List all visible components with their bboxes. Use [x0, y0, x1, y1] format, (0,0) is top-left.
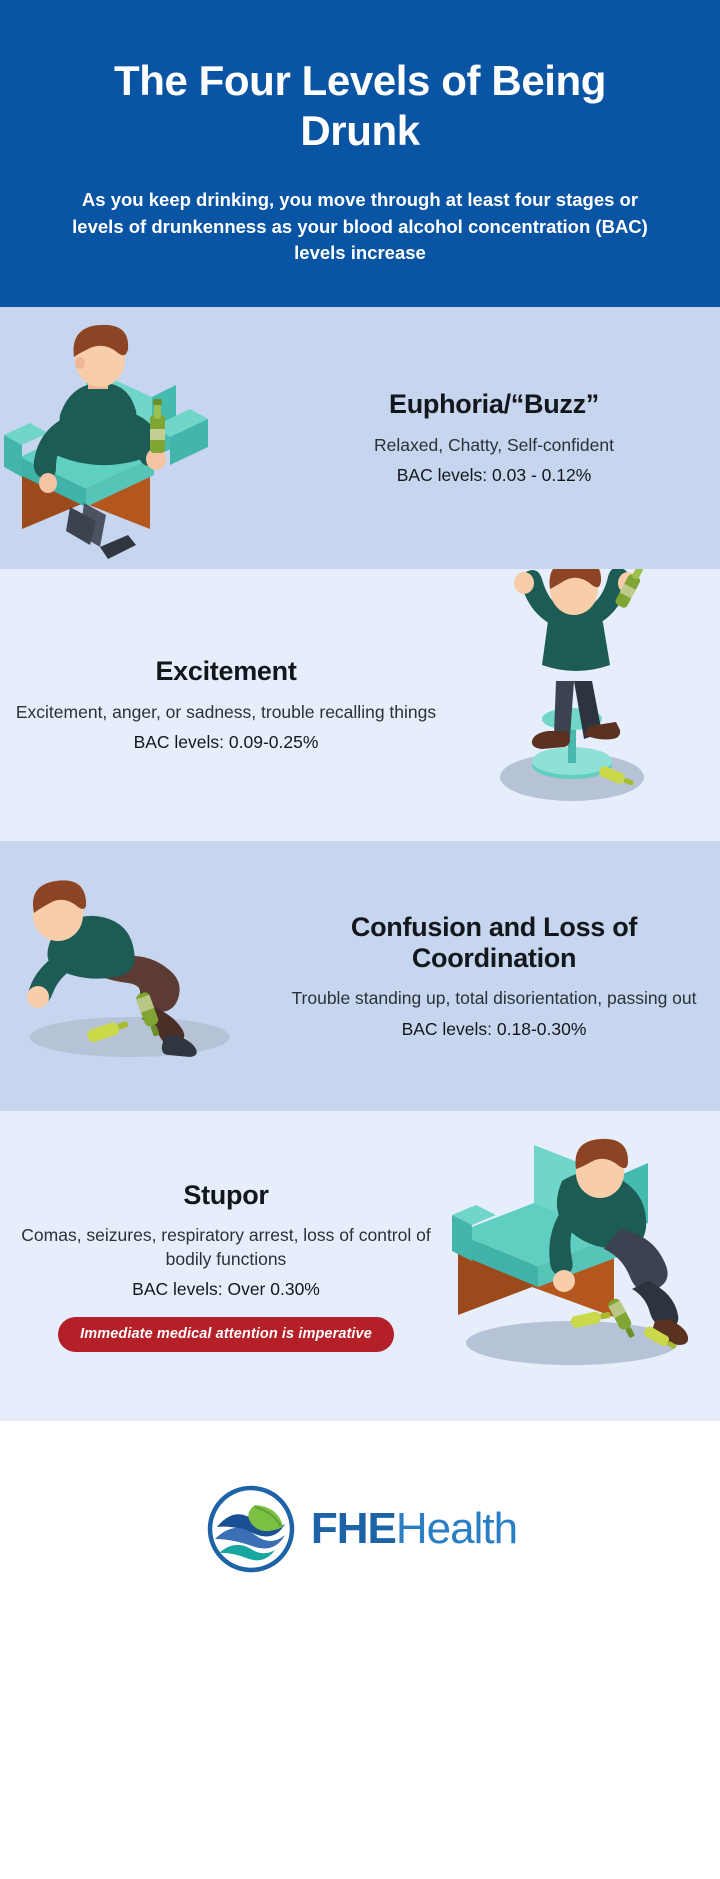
status-badge-immediate-medical-attention: Immediate medical attention is imperativ… — [58, 1317, 394, 1352]
stage-copy-confusion: Confusion and Loss of Coordination Troub… — [268, 912, 720, 1041]
stage-title: Confusion and Loss of Coordination — [282, 912, 706, 975]
infographic-page: The Four Levels of Being Drunk As you ke… — [0, 0, 720, 1879]
sofa-scene-svg — [452, 1111, 720, 1421]
illustration-man-crawling-on-floor — [0, 841, 268, 1111]
illustration-man-sitting-in-armchair — [0, 307, 268, 569]
stage-title: Stupor — [14, 1180, 438, 1211]
stage-description: Relaxed, Chatty, Self-confident — [282, 434, 706, 457]
brand-health: Health — [396, 1504, 517, 1553]
stage-description: Comas, seizures, respiratory arrest, los… — [14, 1224, 438, 1271]
crawling-scene-svg — [0, 841, 268, 1111]
footer-brand-bar: FHEHealth — [0, 1421, 720, 1636]
brand-fhe: FHE — [311, 1504, 396, 1553]
stage-section-confusion: Confusion and Loss of Coordination Troub… — [0, 841, 720, 1111]
stage-copy-stupor: Stupor Comas, seizures, respiratory arre… — [0, 1180, 452, 1352]
header-subtitle: As you keep drinking, you move through a… — [58, 187, 662, 267]
stage-bac-level: BAC levels: Over 0.30% — [14, 1278, 438, 1301]
stage-bac-level: BAC levels: 0.18-0.30% — [282, 1018, 706, 1041]
stage-section-excitement: Excitement Excitement, anger, or sadness… — [0, 569, 720, 841]
fhe-health-logo-icon — [203, 1481, 299, 1577]
illustration-man-on-stool-arms-raised — [452, 569, 720, 841]
stage-section-stupor: Stupor Comas, seizures, respiratory arre… — [0, 1111, 720, 1421]
warning-badge-wrap: Immediate medical attention is imperativ… — [14, 1317, 438, 1352]
stage-bac-level: BAC levels: 0.03 - 0.12% — [282, 464, 706, 487]
header-banner: The Four Levels of Being Drunk As you ke… — [0, 0, 720, 307]
stage-section-euphoria: Euphoria/“Buzz” Relaxed, Chatty, Self-co… — [0, 307, 720, 569]
stage-description: Trouble standing up, total disorientatio… — [282, 987, 706, 1010]
stage-title: Euphoria/“Buzz” — [282, 389, 706, 420]
illustration-man-collapsed-over-sofa — [452, 1111, 720, 1421]
page-title: The Four Levels of Being Drunk — [58, 56, 662, 157]
stage-copy-excitement: Excitement Excitement, anger, or sadness… — [0, 656, 452, 754]
armchair-scene-svg — [0, 307, 268, 569]
stage-copy-euphoria: Euphoria/“Buzz” Relaxed, Chatty, Self-co… — [268, 389, 720, 487]
stool-scene-svg — [452, 569, 720, 841]
stage-description: Excitement, anger, or sadness, trouble r… — [14, 701, 438, 724]
brand-wordmark: FHEHealth — [311, 1507, 517, 1551]
stage-title: Excitement — [14, 656, 438, 687]
stage-bac-level: BAC levels: 0.09-0.25% — [14, 731, 438, 754]
